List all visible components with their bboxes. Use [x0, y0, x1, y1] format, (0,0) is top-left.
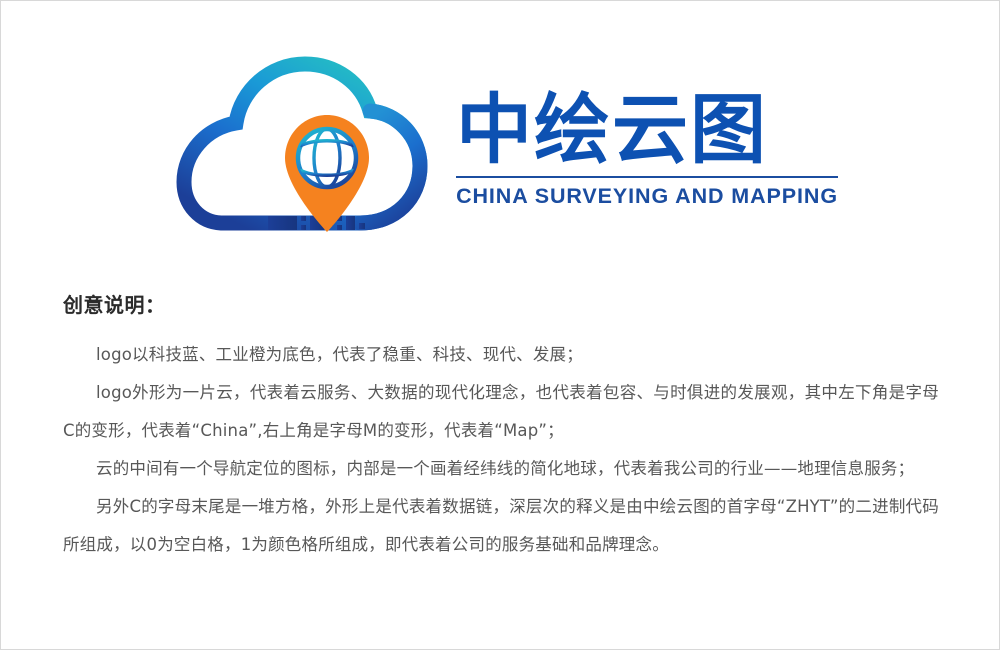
creative-description-section: 创意说明： logo以科技蓝、工业橙为底色，代表了稳重、科技、现代、发展； lo…: [1, 289, 1000, 564]
cloud-globe-pin-logo-icon: [164, 52, 434, 242]
section-title: 创意说明：: [63, 289, 939, 318]
logo-block: 中绘云图 CHINA SURVEYING AND MAPPING: [1, 47, 1000, 247]
presentation-page: 中绘云图 CHINA SURVEYING AND MAPPING 创意说明： l…: [0, 0, 1000, 650]
map-pin-icon: [285, 115, 369, 232]
description-paragraph: logo以科技蓝、工业橙为底色，代表了稳重、科技、现代、发展；: [63, 336, 939, 374]
description-paragraph: 另外C的字母末尾是一堆方格，外形上是代表着数据链，深层次的释义是由中绘云图的首字…: [63, 488, 939, 564]
logo-divider-rule: [456, 176, 838, 178]
logo-wordmark: 中绘云图 CHINA SURVEYING AND MAPPING: [456, 85, 838, 209]
description-paragraph: logo外形为一片云，代表着云服务、大数据的现代化理念，也代表着包容、与时俱进的…: [63, 374, 939, 450]
logo-chinese-name: 中绘云图: [456, 91, 838, 169]
globe-icon: [298, 128, 356, 188]
description-paragraph: 云的中间有一个导航定位的图标，内部是一个画着经纬线的简化地球，代表着我公司的行业…: [63, 450, 939, 488]
logo-english-tagline: CHINA SURVEYING AND MAPPING: [456, 184, 838, 209]
